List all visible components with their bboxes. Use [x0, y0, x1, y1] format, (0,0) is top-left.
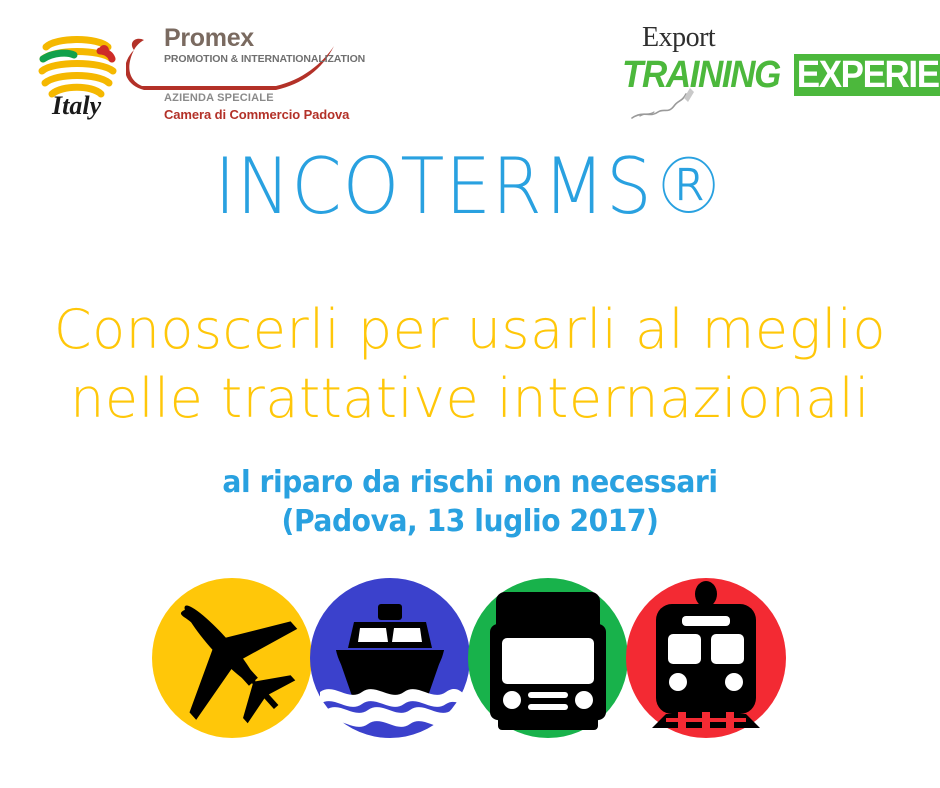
ship-icon — [310, 578, 470, 738]
subtitle: Conoscerli per usarli al meglio nelle tr… — [0, 295, 940, 433]
promex-name: Promex — [164, 26, 254, 51]
promex-camera-label: Camera di Commercio Padova — [164, 107, 349, 122]
pencil-squiggle-icon — [630, 88, 740, 128]
poster-page: { "page": { "background_color": "#ffffff… — [0, 0, 940, 788]
ete-export-word: Export — [642, 24, 715, 52]
transport-icon-plane — [152, 578, 312, 738]
transport-icon-truck — [468, 578, 628, 738]
ete-experience-word: EXPERIENCE — [794, 54, 940, 96]
train-icon — [626, 578, 786, 738]
svg-text:Italy: Italy — [51, 91, 102, 120]
subtitle-line-2: nelle trattative internazionali — [0, 364, 940, 433]
tagline-line-1: al riparo da rischi non necessari — [28, 463, 912, 502]
promex-tagline: PROMOTION & INTERNATIONALIZATION — [164, 53, 365, 65]
title-block: INCOTERMS® — [0, 150, 940, 222]
tagline: al riparo da rischi non necessari (Padov… — [28, 463, 912, 541]
truck-icon — [468, 578, 628, 738]
poster-header: Italy Promex PROMOTION & INTERNATIONALIZ… — [0, 0, 940, 140]
transport-icon-ship — [310, 578, 470, 738]
export-training-experience-logo: Export TRAINING EXPERIENCE — [622, 22, 912, 132]
airplane-icon — [152, 578, 312, 738]
promex-text-block: Promex PROMOTION & INTERNATIONALIZATION … — [126, 22, 341, 132]
subtitle-line-1: Conoscerli per usarli al meglio — [0, 295, 940, 364]
tagline-line-2: (Padova, 13 luglio 2017) — [28, 502, 912, 541]
promex-logo: Italy Promex PROMOTION & INTERNATIONALIZ… — [38, 22, 338, 132]
promex-azienda-label: AZIENDA SPECIALE — [164, 92, 274, 104]
page-title: INCOTERMS® — [0, 147, 940, 225]
transport-icon-train — [626, 578, 786, 738]
transport-icons-row — [0, 570, 940, 750]
